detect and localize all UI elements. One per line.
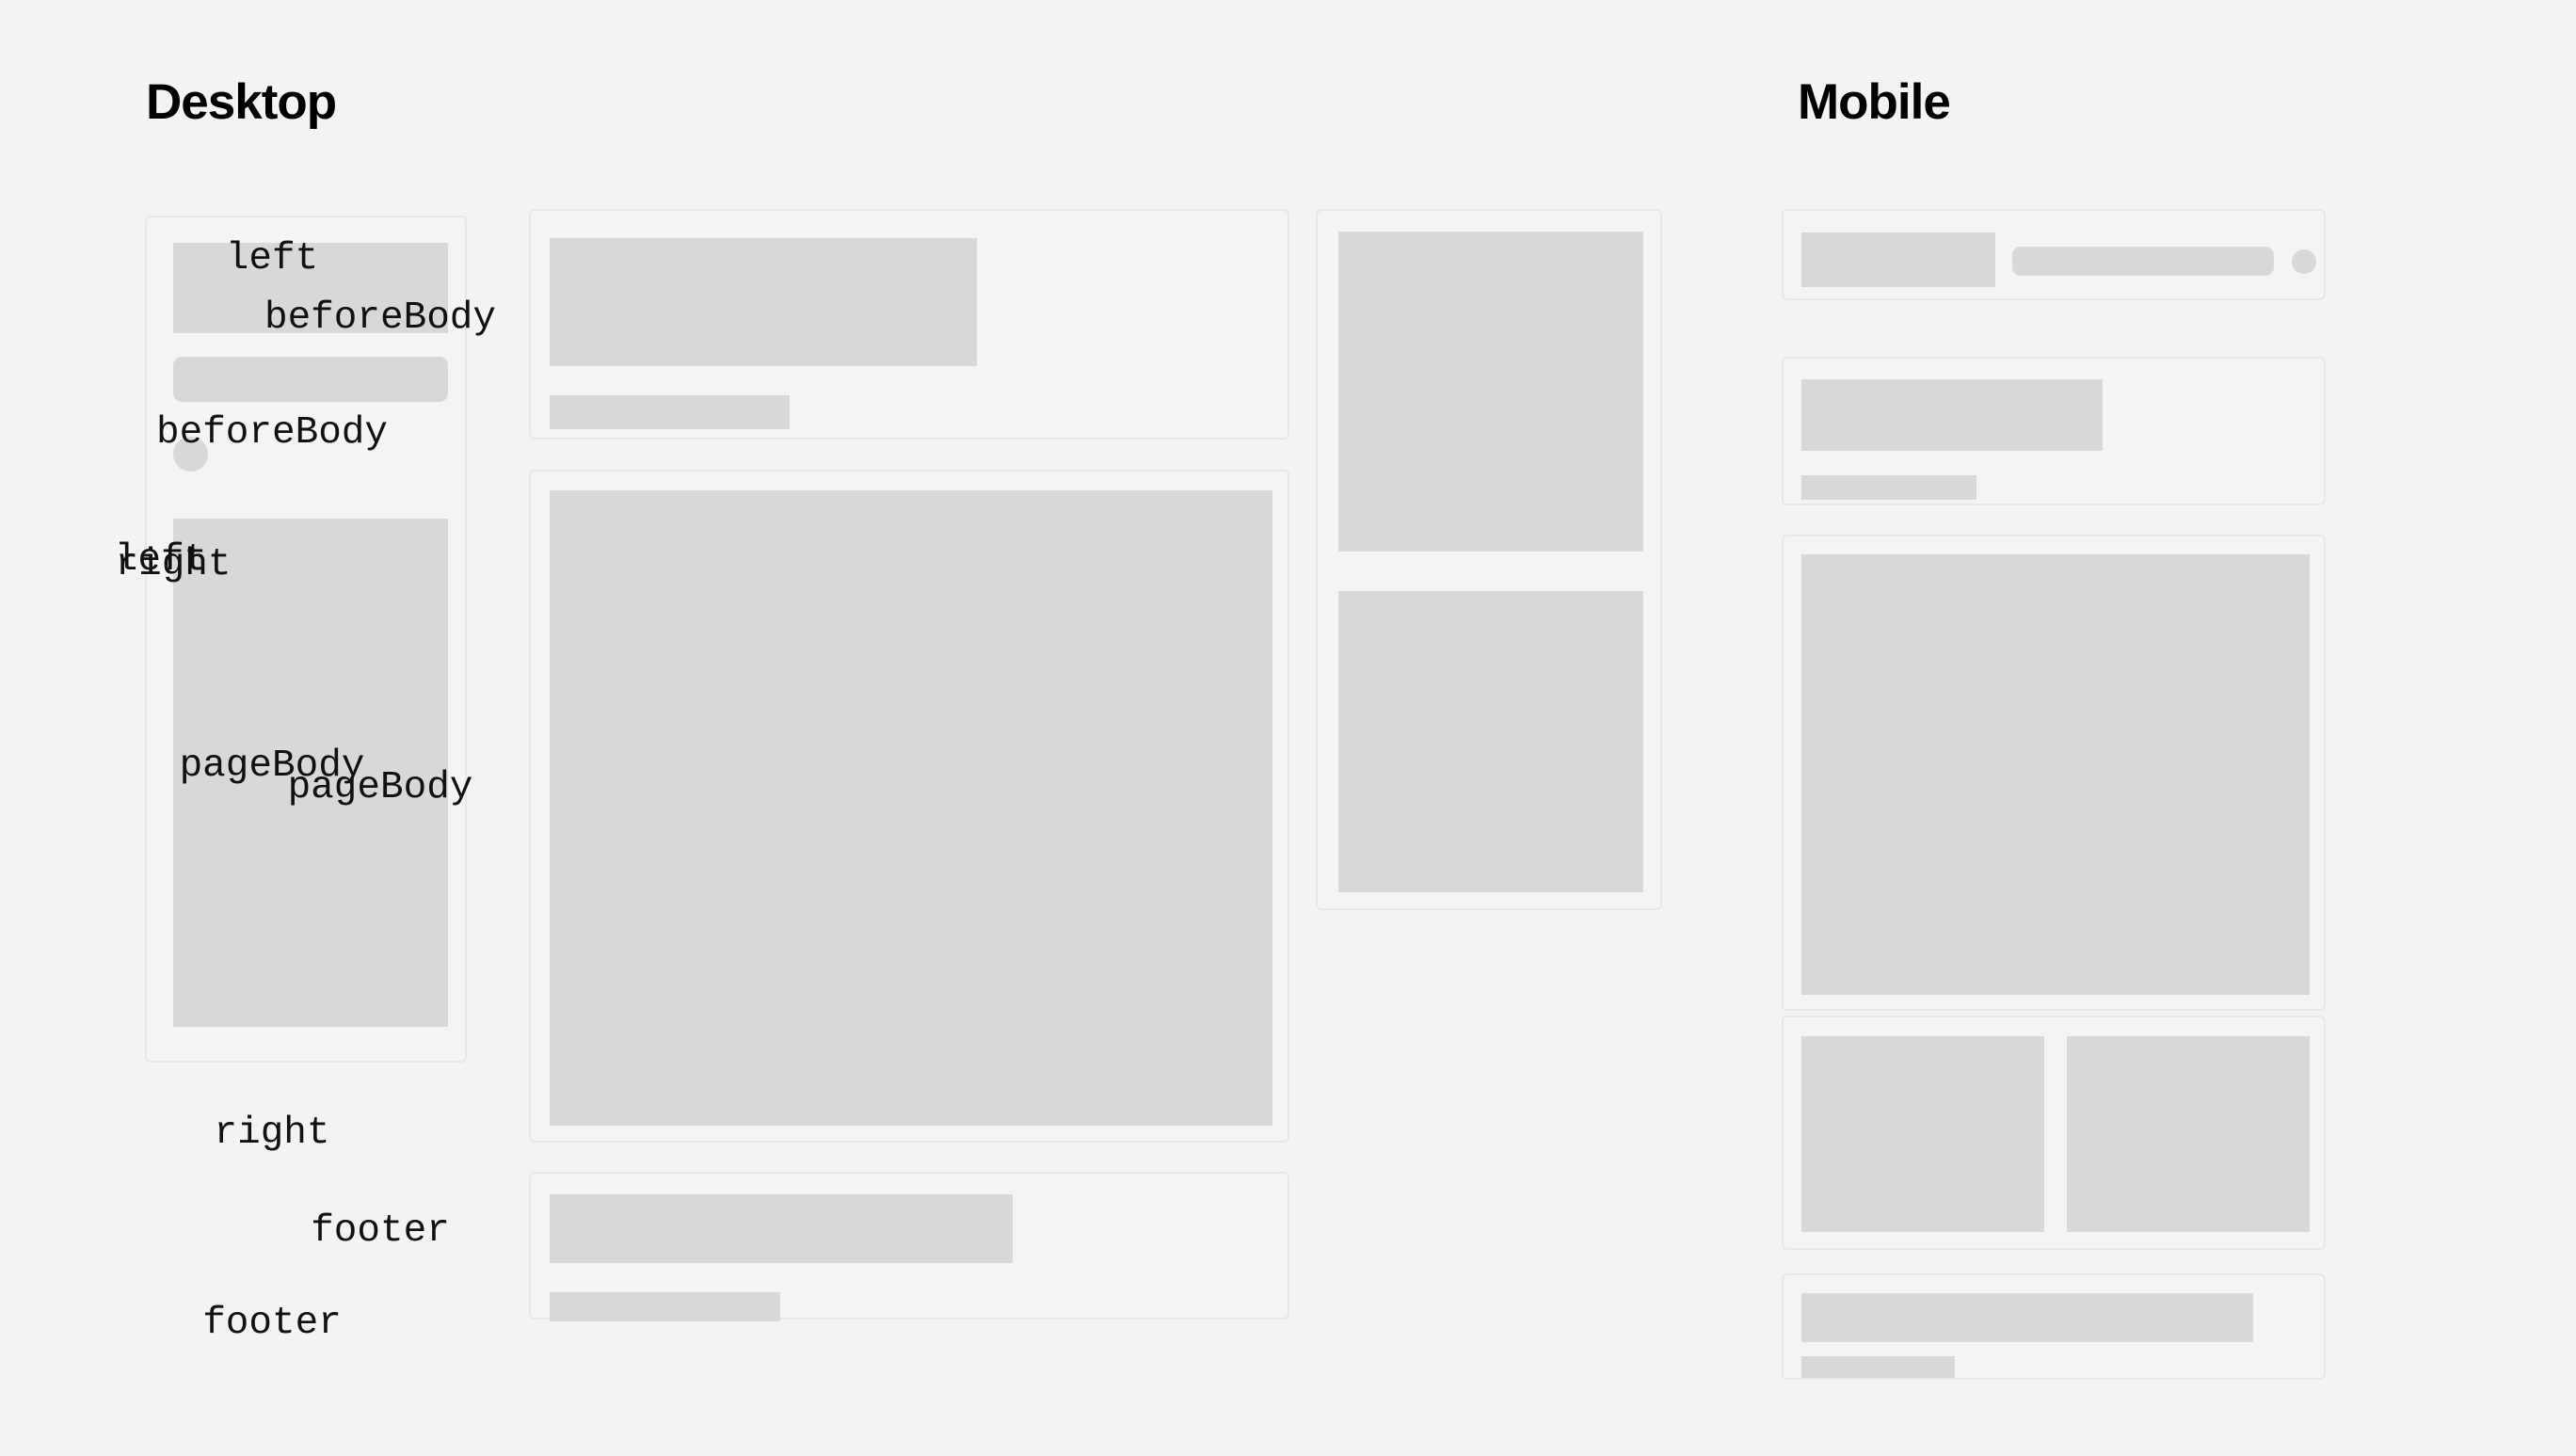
placeholder-bar xyxy=(1801,1356,1955,1378)
placeholder-block xyxy=(1338,232,1643,552)
mobile-left-slot-card[interactable] xyxy=(1782,209,2326,300)
placeholder-block xyxy=(173,243,448,333)
placeholder-bar xyxy=(550,1292,780,1321)
desktop-beforebody-slot-card[interactable] xyxy=(529,209,1289,440)
placeholder-block xyxy=(550,238,977,366)
mobile-beforebody-slot-card[interactable] xyxy=(1782,357,2326,505)
placeholder-pill xyxy=(2012,247,2274,276)
layout-preview-stage: Desktop Mobile left beforeBody pageBody … xyxy=(0,0,2576,1456)
section-title-desktop: Desktop xyxy=(146,77,336,127)
desktop-footer-slot-card[interactable] xyxy=(529,1172,1289,1320)
placeholder-block xyxy=(550,490,1272,1126)
placeholder-block xyxy=(1338,591,1643,892)
desktop-pagebody-slot-card[interactable] xyxy=(529,470,1289,1143)
mobile-footer-slot-label: footer xyxy=(0,1304,544,1343)
placeholder-block xyxy=(173,519,448,1027)
placeholder-block xyxy=(2067,1036,2310,1232)
mobile-pagebody-slot-card[interactable] xyxy=(1782,535,2326,1011)
placeholder-pill xyxy=(173,357,448,402)
placeholder-avatar-circle xyxy=(173,437,208,472)
section-title-mobile: Mobile xyxy=(1798,77,1950,127)
desktop-right-slot-card[interactable] xyxy=(1316,209,1662,910)
placeholder-block xyxy=(1801,232,1995,287)
placeholder-block xyxy=(1801,1293,2253,1342)
placeholder-block xyxy=(1801,1036,2044,1232)
mobile-right-slot-card[interactable] xyxy=(1782,1016,2326,1250)
placeholder-block xyxy=(1801,379,2103,451)
desktop-left-slot-card[interactable] xyxy=(145,216,467,1063)
mobile-footer-slot-card[interactable] xyxy=(1782,1273,2326,1380)
placeholder-block xyxy=(550,1194,1013,1263)
mobile-right-slot-label: right xyxy=(0,1114,544,1153)
placeholder-bar xyxy=(550,395,790,429)
placeholder-avatar-circle xyxy=(2292,249,2316,274)
placeholder-bar xyxy=(1801,475,1976,500)
placeholder-block xyxy=(1801,554,2310,995)
